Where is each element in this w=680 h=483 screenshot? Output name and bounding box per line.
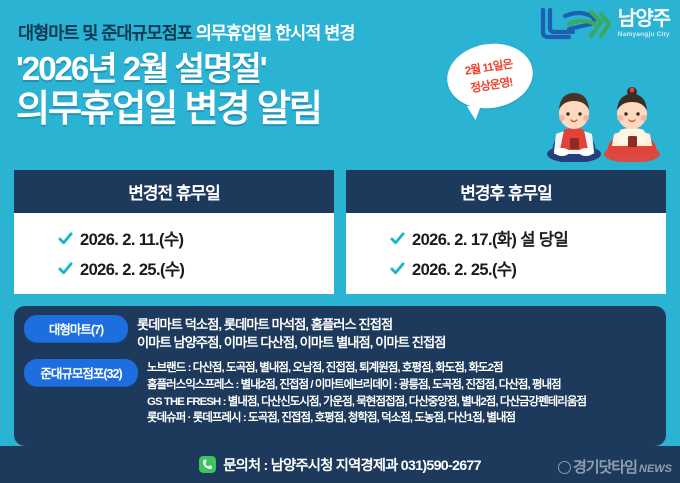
store-line: 노브랜드 : 다산점, 도곡점, 별내점, 오남점, 진접점, 퇴계원점, 호평… (147, 360, 656, 377)
table-cell-date: 2026. 2. 17.(화) 설 당일 (412, 226, 568, 250)
store-line: GS THE FRESH : 별내점, 다산신도시점, 가운점, 묵현점접점, … (147, 394, 656, 411)
store-line: 홈플러스익스프레스 : 별내2점, 진접점 / 이마트에브리데이 : 광릉점, … (147, 377, 656, 394)
table-before-change: 변경전 휴무일 2026. 2. 11.(수) 2026. 2. 25.(수) (14, 170, 334, 294)
table-after-change: 변경후 휴무일 2026. 2. 17.(화) 설 당일 2026. 2. 25… (346, 170, 666, 294)
table-before-body: 2026. 2. 11.(수) 2026. 2. 25.(수) (14, 213, 334, 294)
girl-character (604, 87, 660, 162)
speech-bubble-tail (466, 106, 480, 120)
table-after-heading: 변경후 휴무일 (346, 170, 666, 213)
check-icon (58, 231, 73, 246)
store-line: 롯데마트 덕소점, 롯데마트 마석점, 홈플러스 진접점 (137, 316, 656, 334)
header-band: 대형마트 및 준대규모점포 의무휴업일 한시적 변경 '2026년 2월 설명절… (0, 0, 680, 156)
namyangju-logo-icon (539, 6, 613, 42)
page-title: '2026년 2월 설명절' 의무휴업일 변경 알림 (16, 52, 321, 129)
check-icon (390, 261, 405, 276)
store-lines-large-mart: 롯데마트 덕소점, 롯데마트 마석점, 홈플러스 진접점 이마트 남양주점, 이… (137, 315, 656, 351)
store-category-badge-quasi-large: 준대규모점포(32) (24, 359, 138, 387)
store-list-panel: 대형마트(7) 롯데마트 덕소점, 롯데마트 마석점, 홈플러스 진접점 이마트… (14, 306, 666, 446)
title-line-1: '2026년 2월 설명절' (16, 52, 321, 87)
logo-wordmark: 남양주 Namyangju City (618, 9, 670, 39)
store-lines-quasi-large: 노브랜드 : 다산점, 도곡점, 별내점, 오남점, 진접점, 퇴계원점, 호평… (147, 359, 656, 427)
store-category-badge-large-mart: 대형마트(7) (24, 315, 128, 343)
holiday-comparison-tables: 변경전 휴무일 2026. 2. 11.(수) 2026. 2. 25.(수) … (14, 170, 666, 294)
check-icon (390, 231, 405, 246)
poster-root: 대형마트 및 준대규모점포 의무휴업일 한시적 변경 '2026년 2월 설명절… (0, 0, 680, 483)
title-line-2: 의무휴업일 변경 알림 (16, 89, 321, 129)
globe-icon (558, 461, 571, 474)
table-row: 2026. 2. 25.(수) (14, 253, 334, 283)
store-line: 롯데슈퍼 · 롯데프레시 : 도곡점, 진접점, 호평점, 청학점, 덕소점, … (147, 410, 656, 427)
namyangju-logo: 남양주 Namyangju City (539, 6, 670, 42)
check-icon (58, 261, 73, 276)
logo-name-ko: 남양주 (618, 9, 670, 29)
store-group-quasi-large: 준대규모점포(32) 노브랜드 : 다산점, 도곡점, 별내점, 오남점, 진접… (24, 359, 656, 427)
kicker-line: 대형마트 및 준대규모점포 의무휴업일 한시적 변경 (18, 20, 354, 45)
speech-bubble-callout: 2월 11일은 정상운영! (443, 38, 538, 115)
store-group-large-mart: 대형마트(7) 롯데마트 덕소점, 롯데마트 마석점, 홈플러스 진접점 이마트… (24, 315, 656, 351)
logo-name-en: Namyangju City (618, 32, 670, 39)
table-cell-date: 2026. 2. 25.(수) (412, 256, 516, 280)
hanbok-children-illustration (528, 84, 676, 162)
kicker-accent-text: 의무휴업일 한시적 변경 (196, 23, 355, 43)
store-line: 이마트 남양주점, 이마트 다산점, 이마트 별내점, 이마트 진접점 (137, 334, 656, 352)
table-row: 2026. 2. 11.(수) (14, 223, 334, 253)
watermark: 경기닷타임 NEWS (558, 456, 672, 477)
watermark-en: NEWS (639, 463, 672, 475)
kicker-dark-text: 대형마트 및 준대규모점포 (18, 23, 192, 43)
phone-icon (199, 456, 216, 473)
table-row: 2026. 2. 17.(화) 설 당일 (346, 223, 666, 253)
watermark-ko: 경기닷타임 (573, 456, 637, 477)
table-cell-date: 2026. 2. 11.(수) (80, 226, 183, 250)
table-before-heading: 변경전 휴무일 (14, 170, 334, 213)
table-row: 2026. 2. 25.(수) (346, 253, 666, 283)
boy-character (547, 93, 601, 162)
footer-contact-text: 문의처 : 남양주시청 지역경제과 031)590-2677 (223, 455, 481, 475)
table-after-body: 2026. 2. 17.(화) 설 당일 2026. 2. 25.(수) (346, 213, 666, 294)
table-cell-date: 2026. 2. 25.(수) (80, 256, 184, 280)
